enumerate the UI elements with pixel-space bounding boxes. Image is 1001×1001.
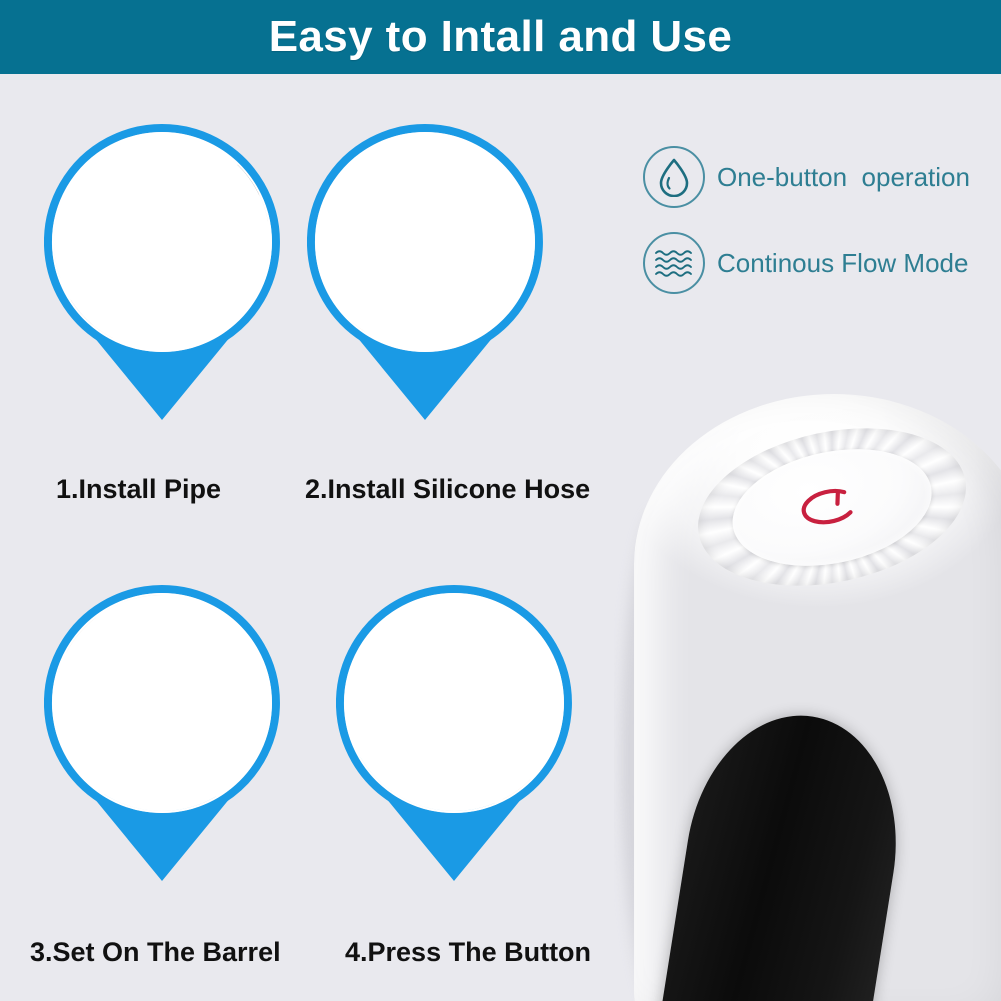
step-image-1: [54, 134, 270, 350]
header-banner: Easy to Intall and Use: [0, 0, 1001, 74]
step-card-1: [44, 124, 280, 424]
step-card-3: Konquer Times: [44, 585, 280, 885]
product-photo: [614, 380, 1001, 1001]
step-label-3: 3.Set On The Barrel: [30, 937, 281, 968]
feature-item-continuous-flow: Continous Flow Mode: [643, 220, 1001, 306]
step-image-4: [346, 595, 562, 811]
step-label-2: 2.Install Silicone Hose: [305, 474, 590, 505]
wave-lines-icon: [643, 232, 705, 294]
product-body: [634, 394, 1001, 1001]
step-card-4: [336, 585, 572, 885]
product-dial: [683, 405, 980, 608]
feature-list: One-button operation Continous Flow Mode: [643, 134, 1001, 306]
step-label-1: 1.Install Pipe: [56, 474, 221, 505]
product-grip-strip: [644, 700, 915, 1001]
step-image-2: [317, 134, 533, 350]
step-card-2: [307, 124, 543, 424]
step-label-4: 4.Press The Button: [345, 937, 591, 968]
feature-item-one-button: One-button operation: [643, 134, 1001, 220]
feature-label: Continous Flow Mode: [717, 249, 968, 278]
infographic-page: Easy to Intall and Use One-button operat…: [0, 0, 1001, 1001]
step-image-3: Konquer Times: [54, 595, 270, 811]
power-icon: [793, 479, 870, 535]
feature-label: One-button operation: [717, 163, 970, 192]
page-title: Easy to Intall and Use: [269, 15, 733, 59]
water-drop-icon: [643, 146, 705, 208]
